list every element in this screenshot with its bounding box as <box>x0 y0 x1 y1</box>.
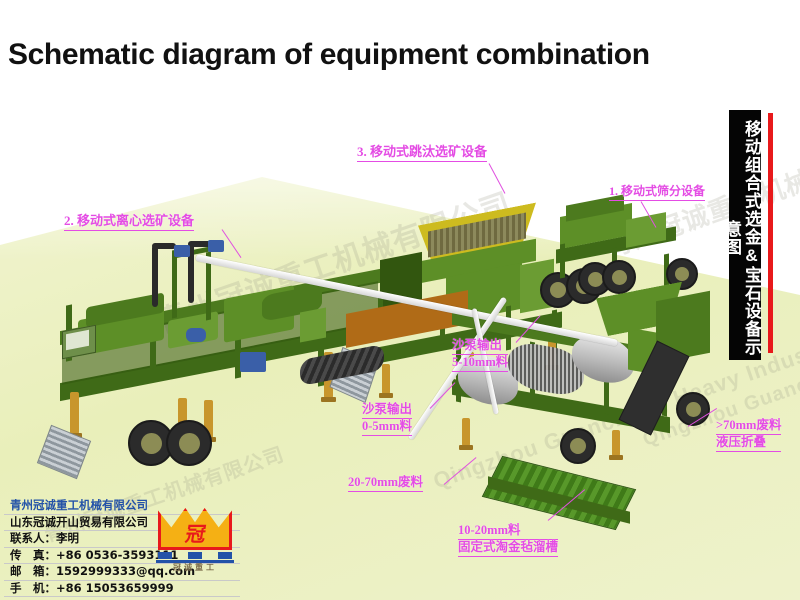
pump-motor <box>186 328 206 342</box>
label-waste-20-70mm: 20-70mm废料 <box>348 471 423 492</box>
riser-pipe <box>152 245 158 307</box>
hydraulic-unit <box>240 352 266 372</box>
label-1-screening-plant: 1. 移动式筛分设备 <box>609 182 705 201</box>
trailer-wheel <box>166 420 212 466</box>
contact-mobile: 手 机：+86 15053659999 <box>4 581 240 598</box>
label-2-centrifugal-plant: 2. 移动式离心选矿设备 <box>64 210 194 231</box>
label-waste-over-70mm: >70mm废料 液压折叠 <box>716 418 781 452</box>
red-accent-bar <box>768 113 773 353</box>
plant-wheel <box>676 392 710 426</box>
support-leg <box>462 418 470 446</box>
tower-post <box>172 250 177 319</box>
riser-elbow <box>152 243 176 249</box>
horizon-haze <box>0 100 800 260</box>
support-leg <box>612 430 620 456</box>
label-sluice-10-20mm: 10-20mm料 固定式淘金毡溜槽 <box>458 523 558 557</box>
support-leg <box>382 364 390 394</box>
pump-motor <box>174 245 190 257</box>
pump-motor <box>208 240 224 252</box>
label-sand-pump-0-5mm: 沙泵输出 0-5mm料 <box>362 402 412 436</box>
label-sand-pump-5-10mm: 沙泵输出 5-10mm料 <box>452 338 508 372</box>
vertical-banner: 移动组合式选金&宝石设备示意图 <box>729 110 761 360</box>
frame-post <box>560 244 565 279</box>
logo-caption: 冠诚重工 <box>156 562 234 573</box>
label-3-jig-plant: 3. 移动式跳汰选矿设备 <box>357 141 487 162</box>
company-logo: 冠 冠诚重工 <box>156 506 234 574</box>
page-title: Schematic diagram of equipment combinati… <box>8 38 650 72</box>
trailer-wheel <box>602 260 636 294</box>
schematic-canvas: 青州冠诚重工机械有限公司 青州冠诚重工机械有限公司 Qingzhou Guanc… <box>0 0 800 600</box>
support-leg <box>70 392 79 434</box>
plant-wheel <box>560 428 596 464</box>
tank-module <box>300 307 326 342</box>
